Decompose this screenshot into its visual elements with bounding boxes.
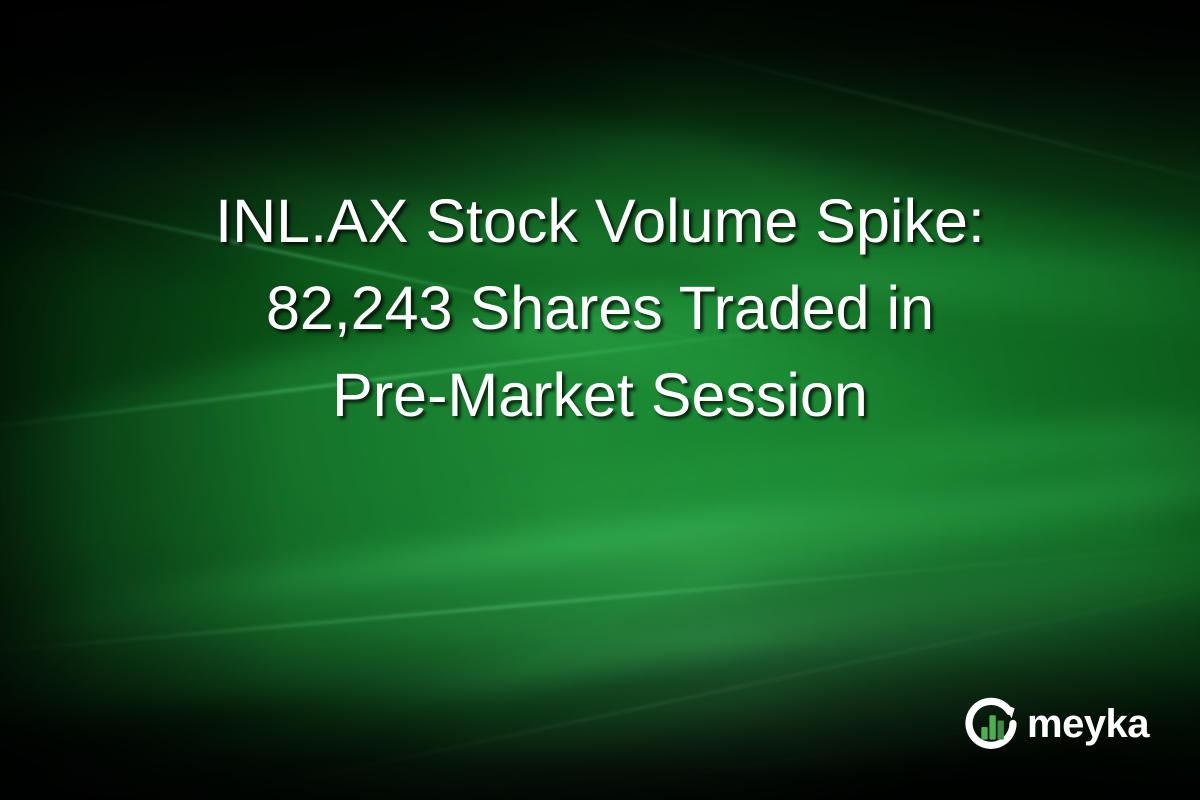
headline-line-3: Pre-Market Session xyxy=(70,352,1130,439)
background-streak-6 xyxy=(0,522,1200,800)
share-card-canvas: INL.AX Stock Volume Spike: 82,243 Shares… xyxy=(0,0,1200,800)
background-filament-2 xyxy=(133,565,1200,800)
brand-wordmark: meyka xyxy=(1027,704,1149,744)
headline-line-2: 82,243 Shares Traded in xyxy=(70,265,1130,352)
headline-line-1: INL.AX Stock Volume Spike: xyxy=(70,178,1130,265)
meyka-logo-icon xyxy=(962,694,1022,754)
background-filament-5 xyxy=(0,543,1200,658)
brand-logo: meyka xyxy=(962,694,1149,754)
headline: INL.AX Stock Volume Spike: 82,243 Shares… xyxy=(0,178,1200,439)
